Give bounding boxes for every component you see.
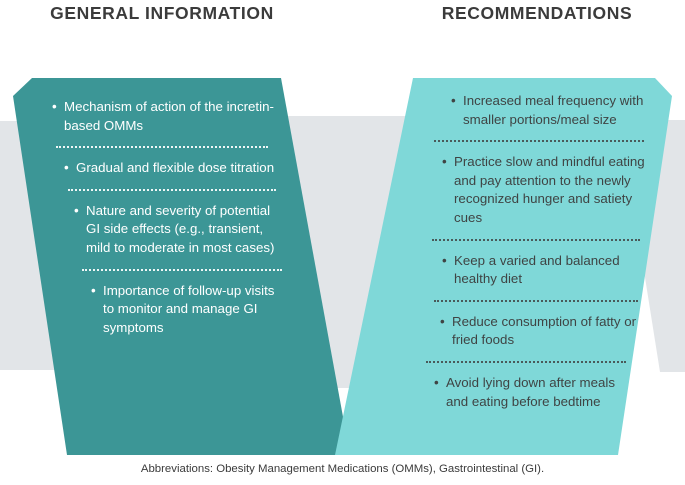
- bullet-icon: •: [434, 374, 446, 393]
- list-separator: [56, 146, 268, 148]
- list-item: • Importance of follow-up visits to moni…: [91, 282, 283, 338]
- list-item: • Gradual and flexible dose titration: [64, 159, 280, 178]
- list-separator: [82, 269, 282, 271]
- bullet-icon: •: [442, 153, 454, 172]
- heading-nutrition-lifestyle: NUTRITION AND LIFESTYLE RECOMMENDATIONS: [392, 0, 682, 24]
- infographic-root: GENERAL INFORMATION NUTRITION AND LIFEST…: [0, 0, 685, 485]
- list-item: • Keep a varied and balanced healthy die…: [442, 252, 642, 289]
- list-item: • Nature and severity of potential GI si…: [74, 202, 280, 258]
- list-item-text: Importance of follow-up visits to monito…: [103, 282, 283, 338]
- bullet-icon: •: [91, 282, 103, 301]
- list-separator: [432, 239, 640, 241]
- list-item: • Reduce consumption of fatty or fried f…: [440, 313, 640, 350]
- list-separator: [426, 361, 626, 363]
- bullet-icon: •: [440, 313, 452, 332]
- bullet-icon: •: [74, 202, 86, 221]
- list-item-text: Gradual and flexible dose titration: [76, 159, 280, 178]
- list-separator: [68, 189, 276, 191]
- right-panel-list: • Increased meal frequency with smaller …: [428, 92, 656, 411]
- list-item-text: Increased meal frequency with smaller po…: [463, 92, 651, 129]
- left-panel-list: • Mechanism of action of the incretin-ba…: [52, 98, 284, 337]
- bullet-icon: •: [442, 252, 454, 271]
- list-item: • Increased meal frequency with smaller …: [451, 92, 651, 129]
- list-item-text: Avoid lying down after meals and eating …: [446, 374, 630, 411]
- list-separator: [434, 300, 638, 302]
- list-item: • Mechanism of action of the incretin-ba…: [52, 98, 276, 135]
- list-item-text: Mechanism of action of the incretin-base…: [64, 98, 276, 135]
- list-item-text: Keep a varied and balanced healthy diet: [454, 252, 642, 289]
- heading-general-information: GENERAL INFORMATION: [22, 2, 302, 24]
- list-item-text: Practice slow and mindful eating and pay…: [454, 153, 648, 227]
- bullet-icon: •: [52, 98, 64, 117]
- bullet-icon: •: [451, 92, 463, 111]
- list-item: • Avoid lying down after meals and eatin…: [434, 374, 630, 411]
- list-separator: [434, 140, 644, 142]
- bullet-icon: •: [64, 159, 76, 178]
- list-item: • Practice slow and mindful eating and p…: [442, 153, 648, 227]
- list-item-text: Nature and severity of potential GI side…: [86, 202, 280, 258]
- list-item-text: Reduce consumption of fatty or fried foo…: [452, 313, 640, 350]
- abbreviations-note: Abbreviations: Obesity Management Medica…: [0, 462, 685, 477]
